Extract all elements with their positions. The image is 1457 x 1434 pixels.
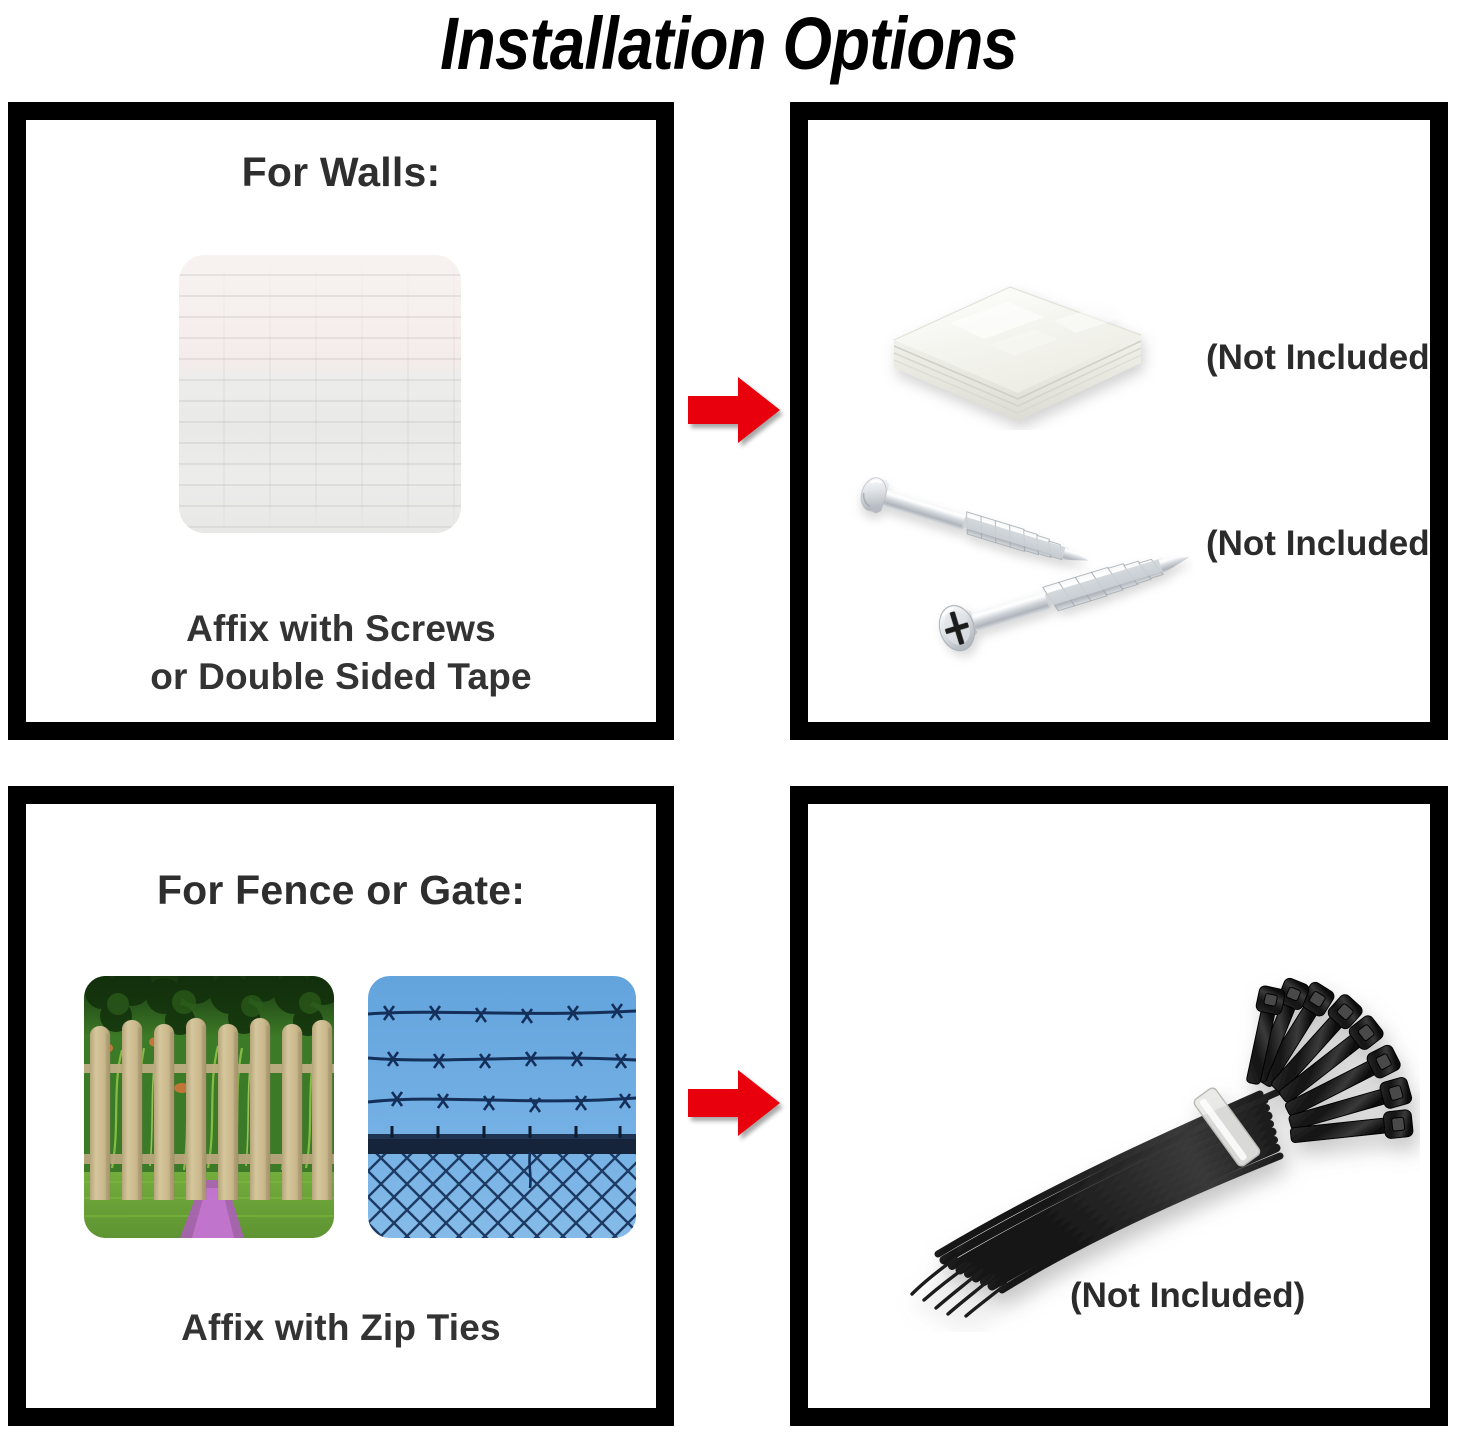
panel-zip-ties-inner: (Not Included) [808, 804, 1430, 1408]
panel-for-fence-caption: Affix with Zip Ties [26, 1304, 656, 1352]
picket-fence-photo [84, 976, 334, 1238]
red-arrow-right-icon [688, 375, 780, 445]
panel-for-walls-heading: For Walls: [26, 148, 656, 196]
panel-for-fence-or-gate-inner: For Fence or Gate: [26, 804, 656, 1408]
panel-wall-hardware: (Not Included) [790, 102, 1448, 740]
installation-options-infographic: Installation Options For Walls: Affix wi… [0, 0, 1457, 1434]
page-title: Installation Options [102, 2, 1355, 86]
panel-for-walls-inner: For Walls: Affix with Screws or Double S… [26, 120, 656, 722]
panel-wall-hardware-inner: (Not Included) [808, 120, 1430, 722]
panel-zip-ties: (Not Included) [790, 786, 1448, 1426]
zip-ties-bundle-icon [860, 912, 1420, 1332]
caption-line-1: Affix with Screws [26, 605, 656, 653]
screws-not-included-label: (Not Included) [1206, 524, 1430, 564]
barbed-wire-chain-link-fence-photo [368, 976, 636, 1238]
panel-for-walls: For Walls: Affix with Screws or Double S… [8, 102, 674, 740]
tape-not-included-label: (Not Included) [1206, 338, 1430, 378]
caption-line-1: Affix with Zip Ties [26, 1304, 656, 1352]
wood-screws-icon [833, 442, 1193, 672]
caption-line-2: or Double Sided Tape [26, 653, 656, 701]
zip-ties-not-included-label: (Not Included) [1070, 1276, 1305, 1316]
red-arrow-right-icon [688, 1068, 780, 1138]
panel-for-fence-heading: For Fence or Gate: [26, 866, 656, 914]
brick-mortar-texture [179, 255, 461, 533]
white-brick-wall-photo [179, 255, 461, 533]
panel-for-fence-or-gate: For Fence or Gate: [8, 786, 674, 1426]
double-sided-tape-stack-icon [858, 245, 1158, 430]
panel-for-walls-caption: Affix with Screws or Double Sided Tape [26, 605, 656, 701]
